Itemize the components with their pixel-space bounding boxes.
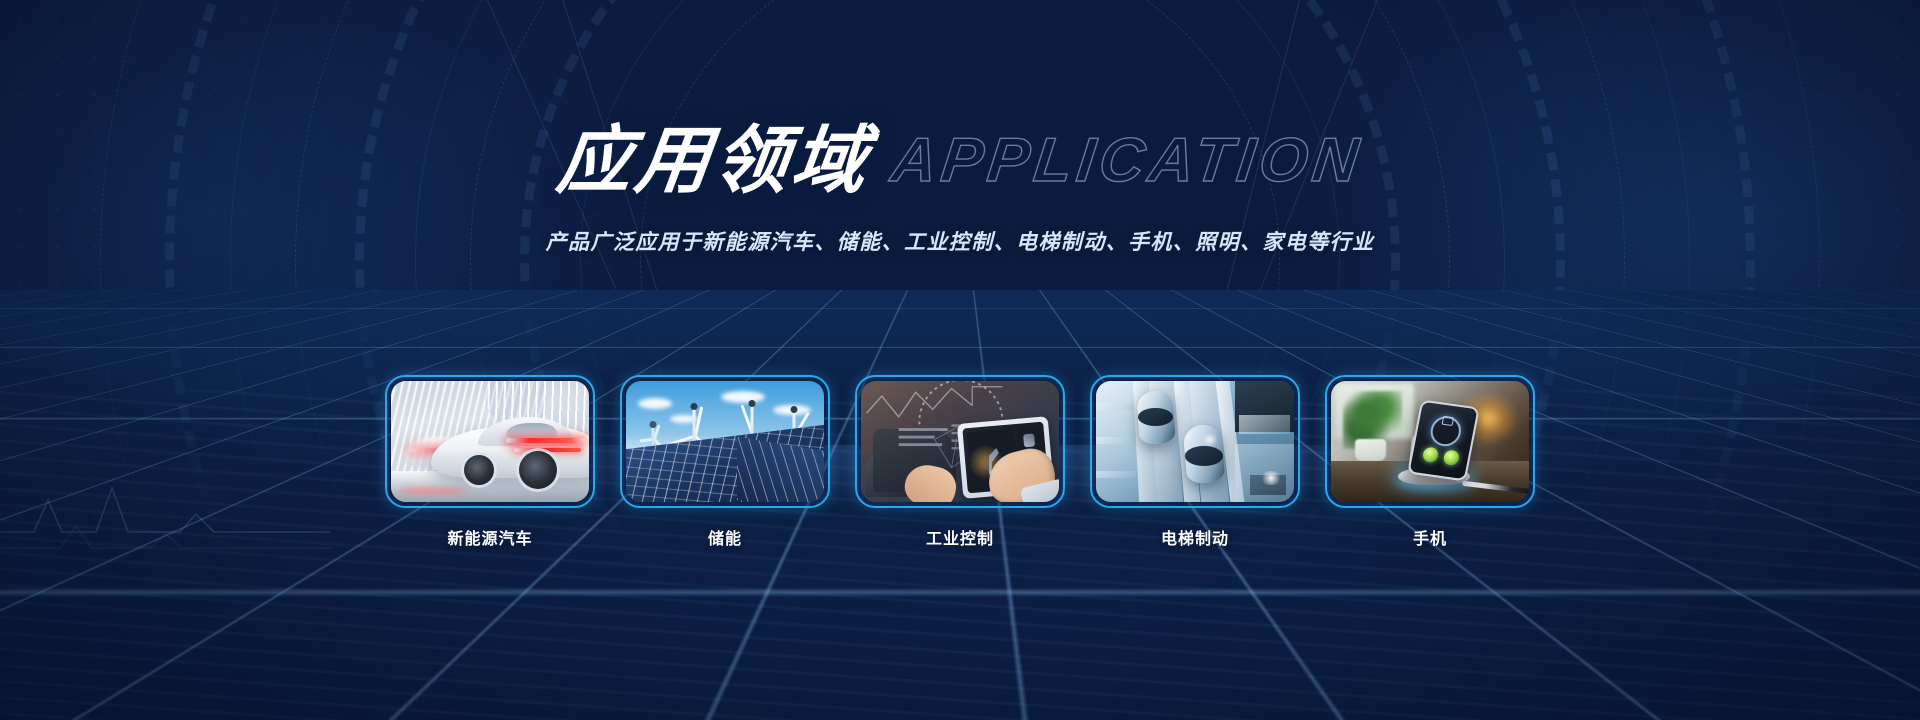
application-card-new-energy-vehicle[interactable]: 新能源汽车 (385, 375, 595, 549)
page-title-english: APPLICATION (888, 130, 1366, 192)
card-image-elevator-braking (1096, 381, 1294, 502)
card-label: 工业控制 (855, 525, 1065, 549)
page-title: 应用领域 (553, 124, 874, 198)
title-row: 应用领域 APPLICATION (0, 124, 1920, 198)
card-frame[interactable] (1090, 375, 1300, 508)
card-image-new-energy-vehicle (391, 381, 589, 502)
application-card-list: 新能源汽车 (0, 375, 1920, 549)
card-image-industrial-control (861, 381, 1059, 502)
card-label: 电梯制动 (1090, 525, 1300, 549)
application-card-elevator-braking[interactable]: 电梯制动 (1090, 375, 1300, 549)
card-label: 手机 (1325, 525, 1535, 549)
card-label: 储能 (620, 525, 830, 549)
application-card-energy-storage[interactable]: 储能 (620, 375, 830, 549)
card-frame[interactable] (385, 375, 595, 508)
card-image-mobile-phone (1331, 381, 1529, 502)
application-banner: 应用领域 APPLICATION 产品广泛应用于新能源汽车、储能、工业控制、电梯… (0, 0, 1920, 720)
application-card-mobile-phone[interactable]: 手机 (1325, 375, 1535, 549)
banner-content: 应用领域 APPLICATION 产品广泛应用于新能源汽车、储能、工业控制、电梯… (0, 0, 1920, 720)
card-frame[interactable] (620, 375, 830, 508)
page-subtitle: 产品广泛应用于新能源汽车、储能、工业控制、电梯制动、手机、照明、家电等行业 (0, 226, 1920, 256)
application-card-industrial-control[interactable]: 工业控制 (855, 375, 1065, 549)
card-label: 新能源汽车 (385, 525, 595, 549)
card-frame[interactable] (1325, 375, 1535, 508)
card-image-energy-storage (626, 381, 824, 502)
card-frame[interactable] (855, 375, 1065, 508)
